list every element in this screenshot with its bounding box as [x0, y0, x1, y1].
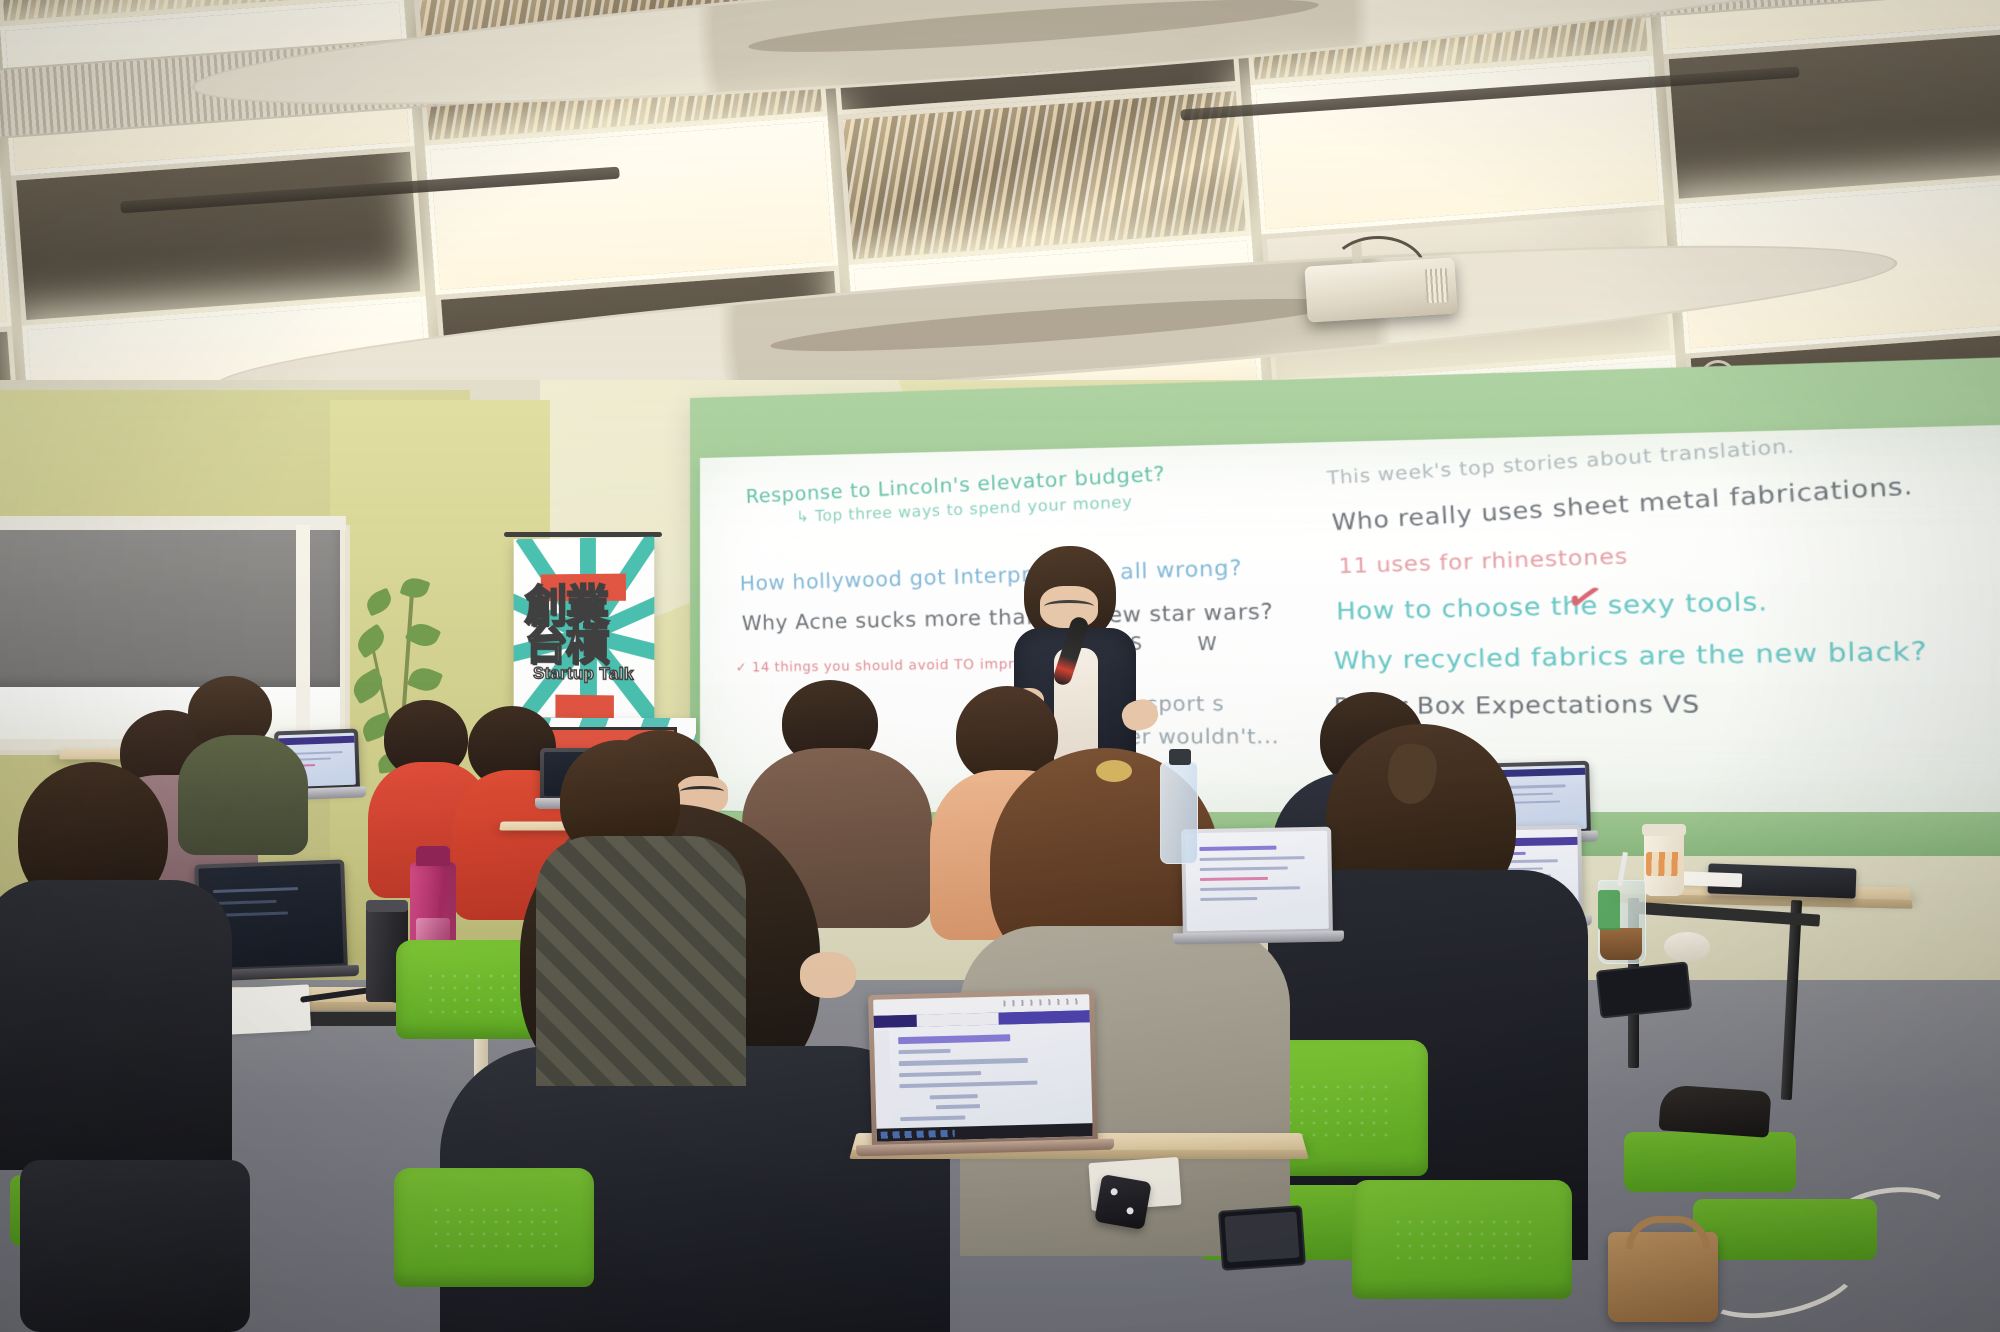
computer-mouse[interactable]	[1664, 932, 1710, 962]
banner-red-bar-bottom	[555, 694, 614, 719]
ceiling-grid	[0, 0, 2000, 430]
fluorescent-panel-light	[424, 116, 838, 295]
tumbler-lid	[366, 900, 408, 912]
whiteboard-line: How hollywood got Interpretation all wro…	[740, 555, 1243, 596]
attendee-torso	[0, 880, 232, 1170]
iced-drink-cup	[1598, 880, 1644, 962]
water-bottle	[1160, 762, 1198, 864]
dice	[1094, 1174, 1152, 1230]
roller-blind-bar	[0, 516, 346, 530]
attendee-torso	[178, 735, 308, 855]
bag	[20, 1160, 250, 1332]
chair[interactable]	[394, 1168, 594, 1332]
whiteboard-line: Why Acne sucks more than the new star wa…	[742, 598, 1274, 635]
banner-subtitle: Startup Talk	[514, 663, 655, 684]
roller-blind[interactable]	[0, 525, 340, 687]
attendee-ear	[800, 952, 856, 998]
ceiling-tile	[11, 146, 425, 325]
laptop-foreground[interactable]	[868, 989, 1098, 1147]
attendee-quilted-coat	[536, 836, 746, 1086]
smartphone[interactable]	[1596, 961, 1693, 1018]
shoe	[1659, 1084, 1772, 1138]
hair-clip	[1096, 760, 1132, 782]
startup-talk-banner: 創業 台槓 Startup Talk	[514, 537, 655, 720]
photo-scene: Response to Lincoln's elevator budget? ↳…	[0, 0, 2000, 1332]
paper-coffee-cup	[1644, 824, 1684, 896]
chair[interactable]	[1352, 1180, 1572, 1332]
ceiling	[0, 0, 2000, 430]
ceiling-tile	[1664, 25, 2000, 204]
window-mullion	[296, 525, 310, 739]
laptop[interactable]	[1181, 827, 1333, 936]
whiteboard-line: 11 uses for rhinestones	[1338, 544, 1628, 579]
whiteboard-line: This week's top stories about translatio…	[1326, 435, 1795, 490]
smartphone[interactable]	[1218, 1205, 1306, 1271]
whiteboard-line: Why recycled fabrics are the new black?	[1334, 638, 1928, 676]
whiteboard-line: ✓ 14 things you should avoid TO improve	[736, 656, 1042, 675]
presenter-glasses	[1044, 600, 1094, 613]
whiteboard-line: How to choose the sexy tools.	[1336, 588, 1769, 626]
whiteboard-underline-w: W	[1197, 634, 1217, 655]
attendee-glasses	[680, 786, 724, 797]
banner-cjk-line2: 台槓	[525, 623, 608, 667]
